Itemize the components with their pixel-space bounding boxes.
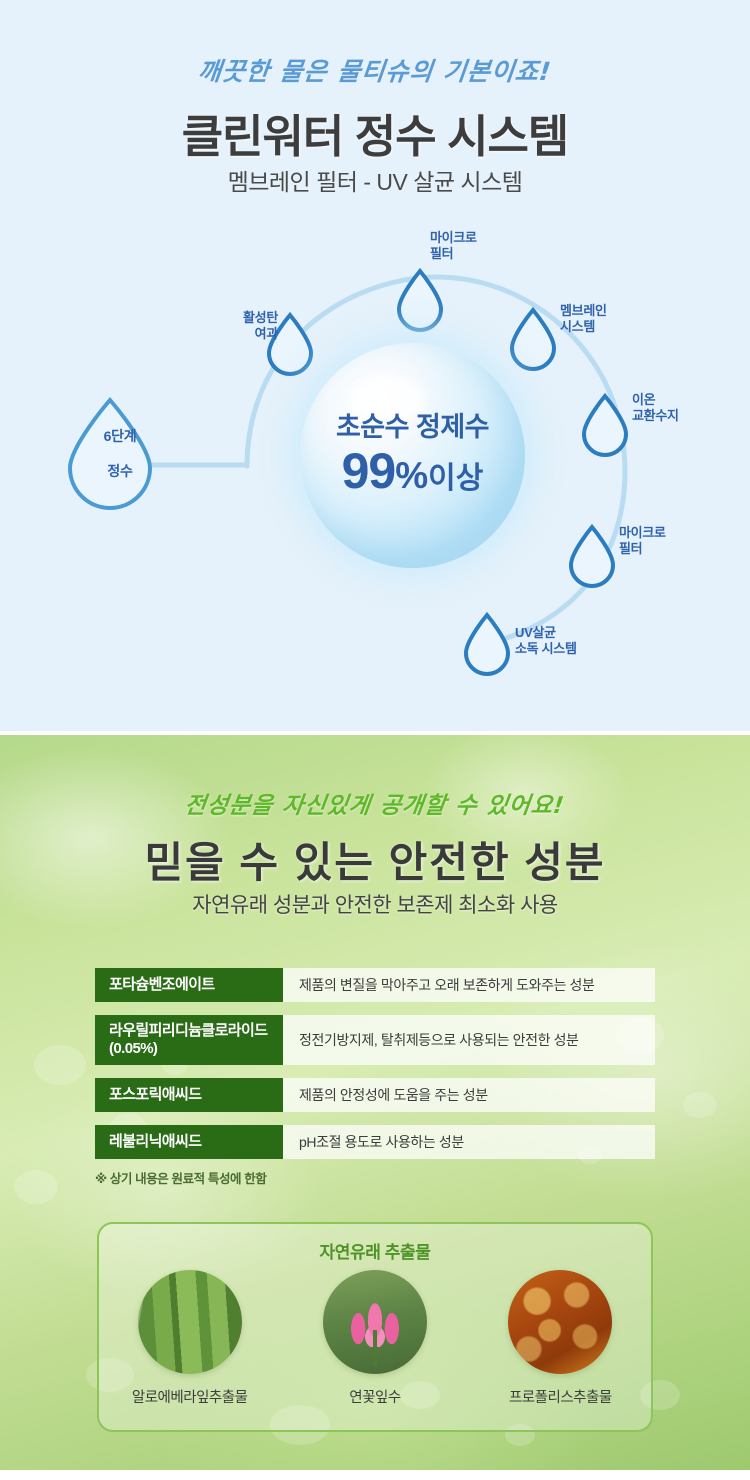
green-section-subtitle: 자연유래 성분과 안전한 보존제 최소화 사용 <box>0 889 750 919</box>
ingredient-name: 라우릴피리디늄클로라이드 (0.05%) <box>95 1015 283 1065</box>
list-item: 프로폴리스추출물 <box>468 1270 653 1407</box>
ingredient-description: pH조절 용도로 사용하는 성분 <box>283 1125 655 1159</box>
ingredient-description: 제품의 변질을 막아주고 오래 보존하게 도와주는 성분 <box>283 968 655 1002</box>
natural-extracts-title: 자연유래 추출물 <box>0 1238 750 1263</box>
ingredient-name: 레불리닉애씨드 <box>95 1125 283 1159</box>
label-membrane-system: 멤브레인 시스템 <box>560 303 607 336</box>
table-row: 라우릴피리디늄클로라이드 (0.05%) 정전기방지제, 탈취제등으로 사용되는… <box>95 1015 655 1065</box>
blue-section-title: 클린워터 정수 시스템 <box>0 100 750 165</box>
label-activated-carbon: 활성탄 여과 <box>226 310 278 343</box>
ingredient-name: 포스포릭애씨드 <box>95 1078 283 1112</box>
blue-section-subtitle: 멤브레인 필터 - UV 살균 시스템 <box>0 163 750 197</box>
label-micro-filter-bottom: 마이크로 필터 <box>619 525 666 558</box>
start-node-label: 6단계 정수 <box>80 410 160 498</box>
natural-extracts-list: 알로에베라잎추출물 연꽃잎수 프로폴리스추출물 <box>97 1270 653 1407</box>
label-ion-exchange-resin: 이온 교환수지 <box>632 392 679 425</box>
ingredient-description: 정전기방지제, 탈취제등으로 사용되는 안전한 성분 <box>283 1015 655 1065</box>
start-node-line2: 정수 <box>80 463 160 481</box>
droplet-ion-exchange <box>584 396 626 455</box>
label-micro-filter-top: 마이크로 필터 <box>430 230 477 263</box>
start-node-line1: 6단계 <box>80 428 160 446</box>
table-row: 레불리닉애씨드 pH조절 용도로 사용하는 성분 <box>95 1125 655 1159</box>
purification-flow-diagram: 초순수 정제수 99%이상 6단계 정수 활성탄 여과 마이크로 필터 멤브레인… <box>0 210 750 710</box>
table-row: 포스포릭애씨드 제품의 안정성에 도움을 주는 성분 <box>95 1078 655 1112</box>
extract-caption: 알로에베라잎추출물 <box>97 1386 282 1407</box>
lotus-flower-image <box>323 1270 427 1374</box>
extract-caption: 연꽃잎수 <box>282 1386 467 1407</box>
ingredient-name: 포타슘벤조에이트 <box>95 968 283 1002</box>
droplet-membrane <box>512 310 554 369</box>
list-item: 알로에베라잎추출물 <box>97 1270 282 1407</box>
droplet-uv <box>466 615 508 674</box>
propolis-honeycomb-image <box>508 1270 612 1374</box>
droplet-micro-filter-bottom <box>571 527 613 586</box>
ingredient-description: 제품의 안정성에 도움을 주는 성분 <box>283 1078 655 1112</box>
ingredients-table: 포타슘벤조에이트 제품의 변질을 막아주고 오래 보존하게 도와주는 성분 라우… <box>95 968 655 1172</box>
aloe-vera-leaf-image <box>138 1270 242 1374</box>
extract-caption: 프로폴리스추출물 <box>468 1386 653 1407</box>
blue-script-headline: 깨끗한 물은 물티슈의 기본이죠! <box>0 52 750 88</box>
table-row: 포타슘벤조에이트 제품의 변질을 막아주고 오래 보존하게 도와주는 성분 <box>95 968 655 1002</box>
list-item: 연꽃잎수 <box>282 1270 467 1407</box>
label-uv-sterilization: UV살균 소독 시스템 <box>515 625 577 658</box>
green-script-headline: 전성분을 자신있게 공개할 수 있어요! <box>0 786 750 820</box>
green-section-title: 믿을 수 있는 안전한 성분 <box>0 829 750 890</box>
ingredients-footnote: ※ 상기 내용은 원료적 특성에 한함 <box>95 1168 266 1187</box>
water-purification-section: 깨끗한 물은 물티슈의 기본이죠! 클린워터 정수 시스템 멤브레인 필터 - … <box>0 0 750 731</box>
purity-bubble <box>300 343 525 568</box>
